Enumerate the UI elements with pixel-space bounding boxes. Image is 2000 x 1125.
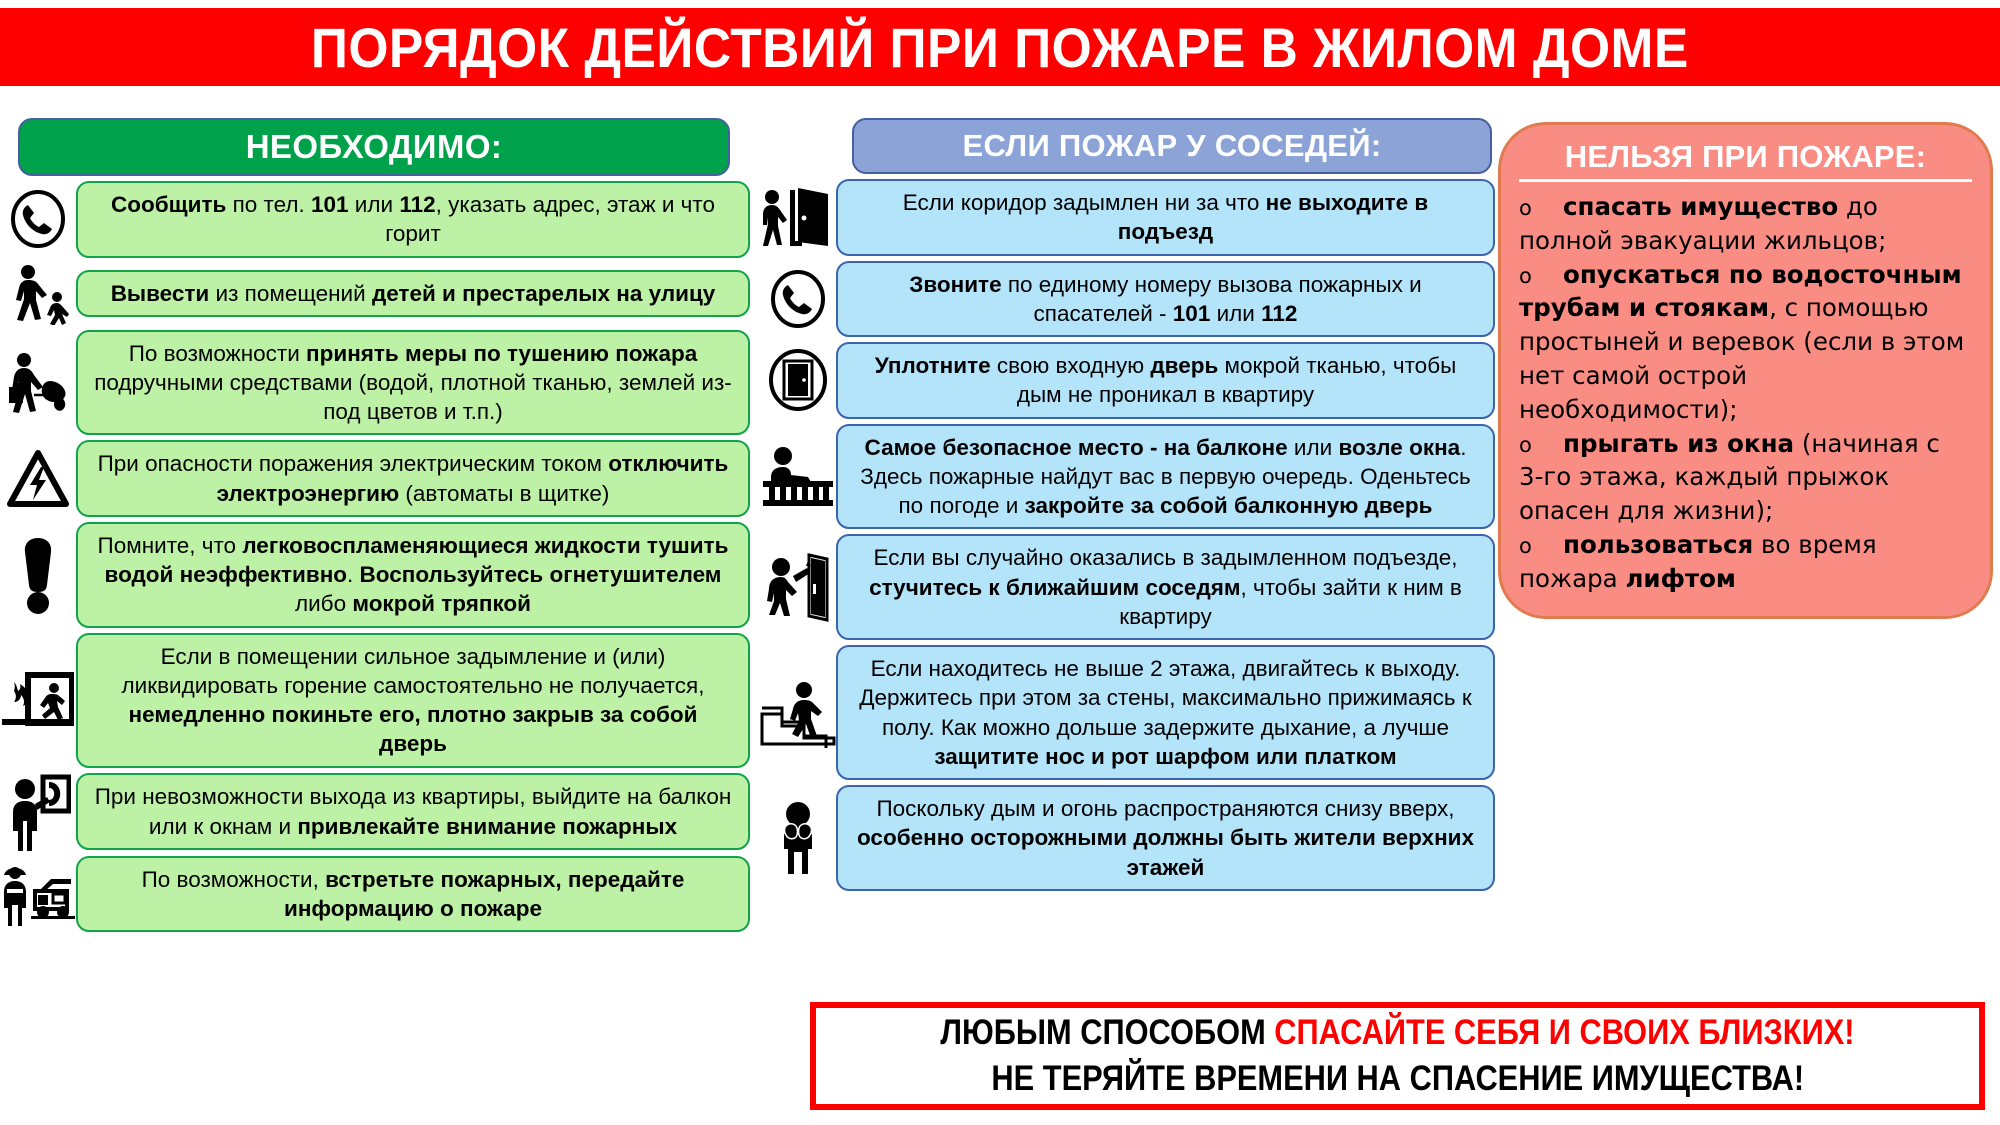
person-at-window-icon bbox=[0, 773, 76, 851]
firefighter-with-truck-icon bbox=[0, 861, 76, 927]
list-item: Если коридор задымлен ни за что не выход… bbox=[760, 179, 1495, 256]
list-item: Звоните по единому номеру вызова пожарны… bbox=[760, 261, 1495, 338]
fire-exit-icon bbox=[0, 671, 76, 729]
list-item: Самое безопасное место - на балконе или … bbox=[760, 424, 1495, 530]
column-header-forbidden: НЕЛЬЗЯ ПРИ ПОЖАРЕ: bbox=[1519, 139, 1972, 182]
forbidden-item: o прыгать из окна (начиная с 3-го этажа,… bbox=[1519, 427, 1972, 528]
person-on-stairs-icon bbox=[760, 678, 836, 748]
list-item-text: Если вы случайно оказались в задымленном… bbox=[836, 534, 1495, 640]
person-on-balcony-icon bbox=[760, 446, 836, 506]
forbidden-list: o спасать имущество до полной эвакуации … bbox=[1519, 190, 1972, 596]
forbidden-panel: НЕЛЬЗЯ ПРИ ПОЖАРЕ: o спасать имущество д… bbox=[1498, 122, 1993, 619]
list-item: Вывести из помещений детей и престарелых… bbox=[0, 263, 750, 325]
column-header-neighbors: ЕСЛИ ПОЖАР У СОСЕДЕЙ: bbox=[852, 118, 1492, 174]
column-neighbors-fire: ЕСЛИ ПОЖАР У СОСЕДЕЙ: Если коридор задым… bbox=[760, 118, 1495, 891]
person-extinguishing-fire-icon bbox=[0, 351, 76, 413]
bottom-alert-box: ЛЮБЫМ СПОСОБОМ СПАСАЙТЕ СЕБЯ И СВОИХ БЛИ… bbox=[810, 1002, 1985, 1110]
list-item-text: Сообщить по тел. 101 или 112, указать ад… bbox=[76, 181, 750, 258]
forbidden-item: o пользоваться во время пожара лифтом bbox=[1519, 528, 1972, 596]
list-item: Сообщить по тел. 101 или 112, указать ад… bbox=[0, 181, 750, 258]
list-item: Если в помещении сильное задымление и (и… bbox=[0, 633, 750, 768]
electric-hazard-icon bbox=[0, 450, 76, 508]
list-item-text: Звоните по единому номеру вызова пожарны… bbox=[836, 261, 1495, 338]
column-header-necessary: НЕОБХОДИМО: bbox=[18, 118, 730, 176]
list-item: Уплотните свою входную дверь мокрой ткан… bbox=[760, 342, 1495, 419]
person-open-door-icon bbox=[760, 184, 836, 250]
person-knocking-door-icon bbox=[760, 552, 836, 622]
alert-line-1-highlight: СПАСАЙТЕ СЕБЯ И СВОИХ БЛИЗКИХ! bbox=[1274, 1013, 1854, 1052]
list-item-text: Уплотните свою входную дверь мокрой ткан… bbox=[836, 342, 1495, 419]
list-item-text: Самое безопасное место - на балконе или … bbox=[836, 424, 1495, 530]
forbidden-item: o опускаться по водосточным трубам и сто… bbox=[1519, 258, 1972, 427]
list-item: При опасности поражения электрическим то… bbox=[0, 440, 750, 517]
list-item: Помните, что легковоспламеняющиеся жидко… bbox=[0, 522, 750, 628]
list-item-text: Если коридор задымлен ни за что не выход… bbox=[836, 179, 1495, 256]
list-item: Если вы случайно оказались в задымленном… bbox=[760, 534, 1495, 640]
list-item-text: По возможности принять меры по тушению п… bbox=[76, 330, 750, 436]
list-item-text: Если находитесь не выше 2 этажа, двигайт… bbox=[836, 645, 1495, 780]
list-item-text: Вывести из помещений детей и престарелых… bbox=[76, 270, 750, 317]
bullet-icon: o bbox=[1519, 433, 1532, 457]
closed-door-icon bbox=[760, 349, 836, 411]
person-covering-face-icon bbox=[760, 800, 836, 876]
list-item: При невозможности выхода из квартиры, вы… bbox=[0, 773, 750, 851]
list-item-text: Поскольку дым и огонь распространяются с… bbox=[836, 785, 1495, 891]
bullet-icon: o bbox=[1519, 534, 1532, 558]
neighbors-list: Если коридор задымлен ни за что не выход… bbox=[760, 179, 1495, 891]
fire-safety-poster: ПОРЯДОК ДЕЙСТВИЙ ПРИ ПОЖАРЕ В ЖИЛОМ ДОМЕ… bbox=[0, 0, 2000, 1125]
adult-with-child-icon bbox=[0, 263, 76, 325]
list-item: По возможности принять меры по тушению п… bbox=[0, 330, 750, 436]
exclamation-mark-icon bbox=[0, 535, 76, 615]
list-item-text: По возможности, встретьте пожарных, пере… bbox=[76, 856, 750, 933]
necessary-list: Сообщить по тел. 101 или 112, указать ад… bbox=[0, 181, 750, 932]
bullet-icon: o bbox=[1519, 264, 1532, 288]
poster-title: ПОРЯДОК ДЕЙСТВИЙ ПРИ ПОЖАРЕ В ЖИЛОМ ДОМЕ bbox=[311, 15, 1689, 80]
list-item-text: При невозможности выхода из квартиры, вы… bbox=[76, 773, 750, 850]
list-item-text: Помните, что легковоспламеняющиеся жидко… bbox=[76, 522, 750, 628]
alert-line-1-plain: ЛЮБЫМ СПОСОБОМ bbox=[940, 1013, 1274, 1052]
list-item-text: Если в помещении сильное задымление и (и… bbox=[76, 633, 750, 768]
column-necessary: НЕОБХОДИМО: Сообщить по тел. 101 или 112… bbox=[0, 118, 750, 932]
list-item: Если находитесь не выше 2 этажа, двигайт… bbox=[760, 645, 1495, 780]
column-forbidden: НЕЛЬЗЯ ПРИ ПОЖАРЕ: o спасать имущество д… bbox=[1498, 122, 1993, 619]
alert-line-2: НЕ ТЕРЯЙТЕ ВРЕМЕНИ НА СПАСЕНИЕ ИМУЩЕСТВА… bbox=[991, 1059, 1804, 1099]
list-item-text: При опасности поражения электрическим то… bbox=[76, 440, 750, 517]
list-item: По возможности, встретьте пожарных, пере… bbox=[0, 856, 750, 933]
list-item: Поскольку дым и огонь распространяются с… bbox=[760, 785, 1495, 891]
alert-line-1: ЛЮБЫМ СПОСОБОМ СПАСАЙТЕ СЕБЯ И СВОИХ БЛИ… bbox=[940, 1013, 1854, 1053]
forbidden-item: o спасать имущество до полной эвакуации … bbox=[1519, 190, 1972, 258]
poster-title-banner: ПОРЯДОК ДЕЙСТВИЙ ПРИ ПОЖАРЕ В ЖИЛОМ ДОМЕ bbox=[0, 8, 2000, 86]
bullet-icon: o bbox=[1519, 196, 1532, 220]
telephone-icon bbox=[760, 269, 836, 329]
telephone-icon bbox=[0, 189, 76, 249]
